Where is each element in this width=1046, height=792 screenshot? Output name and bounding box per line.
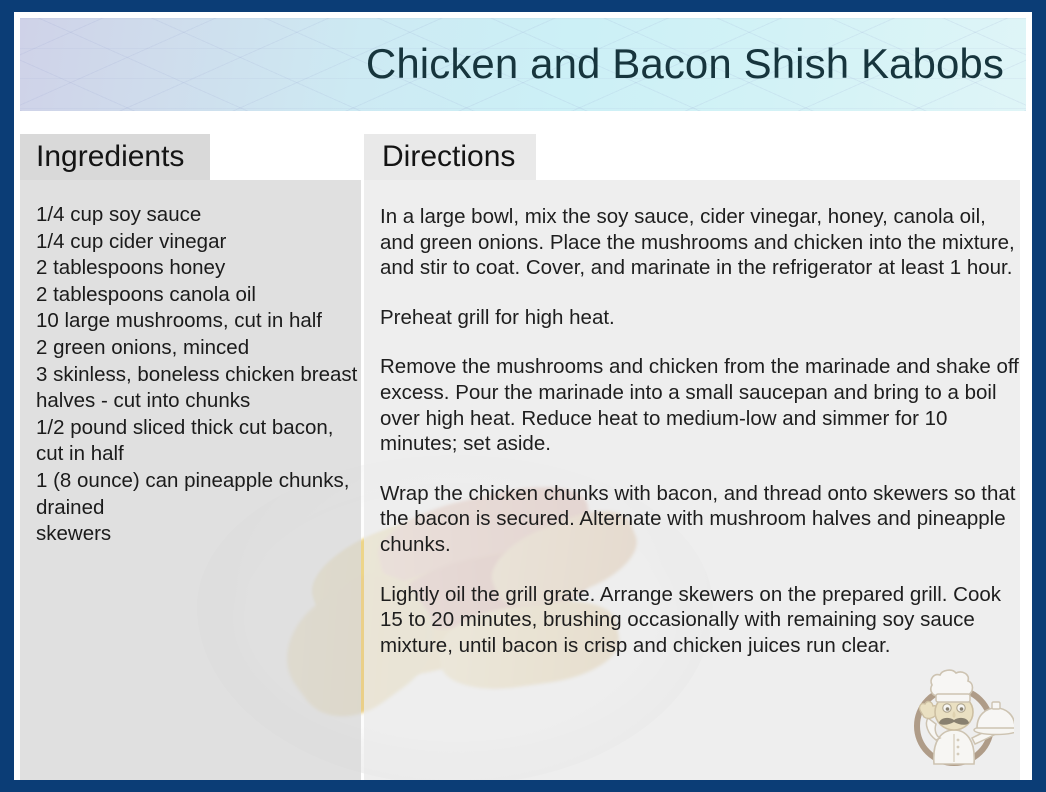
page-title: Chicken and Bacon Shish Kabobs bbox=[366, 40, 1004, 88]
chef-pupil-left bbox=[946, 707, 950, 711]
direction-step: Lightly oil the grill grate. Arrange ske… bbox=[380, 582, 1024, 659]
ingredients-heading: Ingredients bbox=[36, 140, 184, 174]
directions-heading-tab: Directions bbox=[364, 134, 536, 180]
jacket-button bbox=[957, 753, 960, 756]
cloche-dome bbox=[977, 708, 1014, 728]
chef-hat-band bbox=[936, 694, 970, 702]
jacket-button bbox=[957, 739, 960, 742]
chef-hat-puff bbox=[931, 670, 973, 696]
directions-steps: In a large bowl, mix the soy sauce, cide… bbox=[380, 204, 1024, 658]
jacket-button bbox=[957, 746, 960, 749]
cloche-handle bbox=[992, 702, 1000, 709]
title-banner: Chicken and Bacon Shish Kabobs bbox=[20, 18, 1026, 111]
ingredients-heading-tab: Ingredients bbox=[20, 134, 210, 180]
direction-step: Remove the mushrooms and chicken from th… bbox=[380, 354, 1024, 456]
directions-heading: Directions bbox=[382, 140, 515, 174]
direction-step: Preheat grill for high heat. bbox=[380, 305, 1024, 331]
ingredients-list: 1/4 cup soy sauce 1/4 cup cider vinegar … bbox=[36, 202, 366, 548]
chef-pupil-right bbox=[960, 707, 964, 711]
recipe-page: Chicken and Bacon Shish Kabobs Ingredien… bbox=[14, 12, 1032, 780]
chef-mascot-logo bbox=[902, 668, 1014, 768]
direction-step: Wrap the chicken chunks with bacon, and … bbox=[380, 481, 1024, 558]
direction-step: In a large bowl, mix the soy sauce, cide… bbox=[380, 204, 1024, 281]
recipe-card: Chicken and Bacon Shish Kabobs Ingredien… bbox=[0, 0, 1046, 792]
